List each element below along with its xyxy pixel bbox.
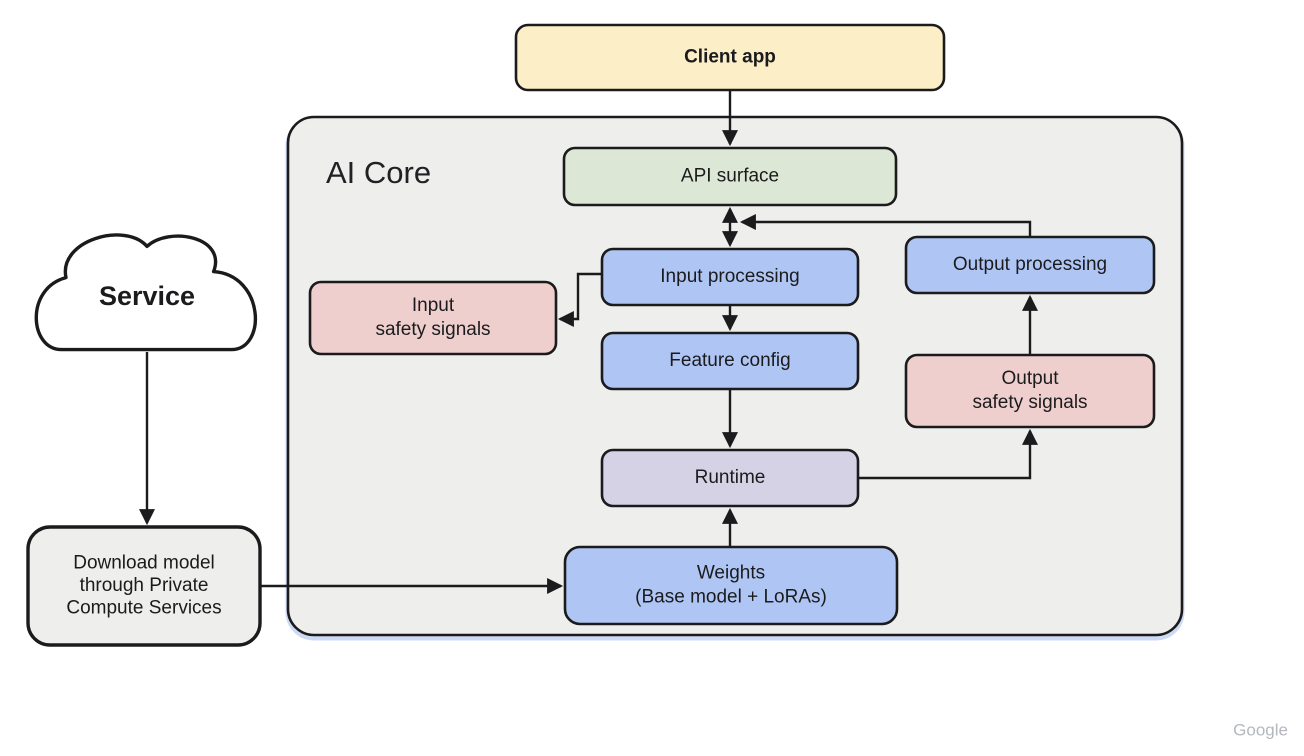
- node-rect: [310, 282, 556, 354]
- node-label-output-safety-signals-line2: safety signals: [972, 392, 1087, 413]
- node-label-input-safety-signals-line1: Input: [412, 295, 455, 316]
- node-client-app[interactable]: Client app: [516, 25, 944, 90]
- node-output-safety-signals[interactable]: Outputsafety signals: [906, 355, 1154, 427]
- node-rect: [565, 547, 897, 624]
- node-label-download-model-line1: Download model: [73, 553, 215, 574]
- node-service-cloud[interactable]: Service: [36, 235, 255, 350]
- node-label-feature-config: Feature config: [669, 350, 790, 371]
- node-label-weights-line1: Weights: [697, 562, 765, 583]
- node-label-input-processing: Input processing: [660, 266, 799, 287]
- node-label-api-surface: API surface: [681, 166, 779, 187]
- ai-core-title: AI Core: [326, 155, 431, 190]
- google-watermark: Google: [1233, 720, 1288, 739]
- node-input-processing[interactable]: Input processing: [602, 249, 858, 305]
- architecture-diagram: AI Core Client appServiceDownload modelt…: [0, 0, 1304, 756]
- node-rect: [906, 355, 1154, 427]
- node-output-processing[interactable]: Output processing: [906, 237, 1154, 293]
- node-runtime[interactable]: Runtime: [602, 450, 858, 506]
- node-label-input-safety-signals-line2: safety signals: [375, 319, 490, 340]
- node-label-output-safety-signals-line1: Output: [1001, 368, 1059, 389]
- node-label-weights-line2: (Base model + LoRAs): [635, 587, 827, 608]
- diagram-root: AI Core Client appServiceDownload modelt…: [0, 0, 1304, 756]
- node-label-download-model-line2: through Private: [80, 575, 209, 596]
- node-input-safety-signals[interactable]: Inputsafety signals: [310, 282, 556, 354]
- node-label-download-model-line3: Compute Services: [66, 597, 221, 618]
- node-label-client-app: Client app: [684, 47, 776, 68]
- node-download-model[interactable]: Download modelthrough PrivateCompute Ser…: [28, 527, 260, 645]
- node-label-runtime: Runtime: [695, 467, 766, 488]
- node-label-output-processing: Output processing: [953, 254, 1107, 275]
- node-weights[interactable]: Weights(Base model + LoRAs): [565, 547, 897, 624]
- node-label-service-cloud: Service: [99, 281, 195, 311]
- node-feature-config[interactable]: Feature config: [602, 333, 858, 389]
- node-api-surface[interactable]: API surface: [564, 148, 896, 205]
